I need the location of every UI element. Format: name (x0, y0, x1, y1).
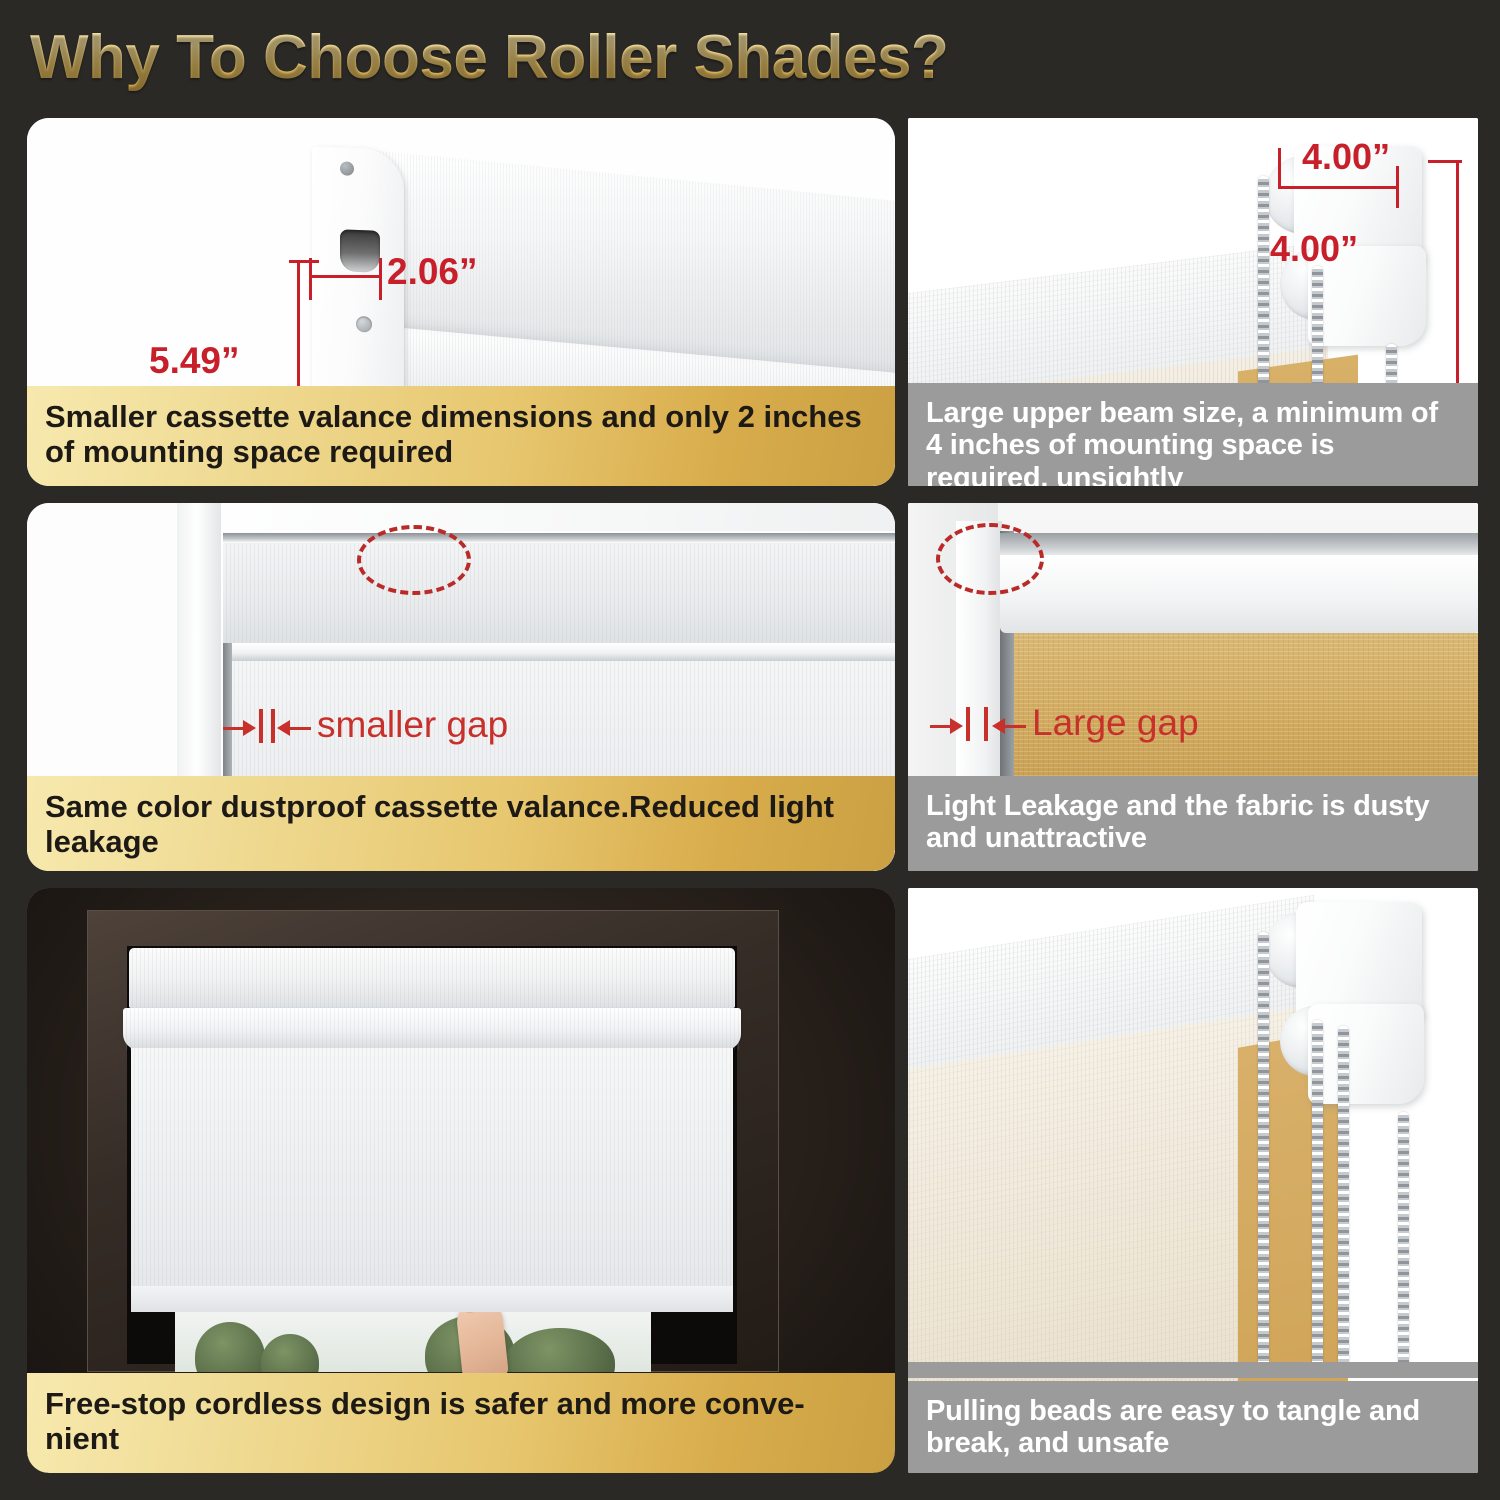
panel-con-large-upper-beam: 4.00” 4.00” Large upper beam size, a min… (908, 118, 1478, 486)
valance (1000, 555, 1478, 633)
dim-cap-top (1428, 160, 1462, 163)
dim-tick-left (1278, 148, 1281, 188)
page-title-text: Why To Choose Roller Shades? (30, 18, 1230, 98)
valance-lip (123, 1008, 741, 1050)
dimension-label-width: 4.00” (1302, 136, 1390, 178)
bead-chain-middle (1312, 1020, 1323, 1372)
cassette-valance (223, 543, 895, 643)
panel-pro-cordless-design: Free-stop cordless design is safer and m… (27, 888, 895, 1473)
dim-line-width (1278, 186, 1398, 189)
bead-chain-rear (1398, 1112, 1409, 1372)
dimension-label-height: 4.00” (1270, 228, 1358, 270)
dim-line-width (309, 275, 381, 278)
shade-fabric (131, 1048, 733, 1310)
panel-pro-dustproof-valance: smaller gap Same color dustproof cassett… (27, 503, 895, 871)
highlight-ellipse-icon (357, 525, 471, 595)
upper-beam (1000, 533, 1478, 555)
bead-chain-inner (1338, 1026, 1349, 1372)
caption-con-pulling-beads: Pulling beads are easy to tangle and bre… (908, 1381, 1478, 1473)
mounting-bracket-lower (1308, 1004, 1424, 1104)
cassette-divider (223, 643, 895, 661)
cassette-headrail (129, 948, 735, 1008)
dim-tick-left (309, 258, 312, 300)
caption-con-light-leakage: Light Leakage and the fabric is dusty an… (908, 776, 1478, 871)
panel-pro-cassette-dimensions: 2.06” 5.49” Smaller cassette valance dim… (27, 118, 895, 486)
mounting-bracket-upper (1296, 902, 1422, 1020)
bead-chain-front (1258, 932, 1269, 1372)
caption-pro-cassette-dimensions: Smaller cassette valance dimensions and … (27, 386, 895, 486)
gap-callout-label: smaller gap (317, 704, 508, 746)
bottom-rail (131, 1286, 733, 1312)
gap-callout-label: Large gap (1032, 702, 1199, 744)
dim-tick-right (379, 258, 382, 300)
outdoor-view (175, 1312, 651, 1372)
caption-pro-cordless-design: Free-stop cordless design is safer and m… (27, 1373, 895, 1473)
panel-con-light-leakage: Large gap Light Leakage and the fabric i… (908, 503, 1478, 871)
dim-cap-top (289, 260, 319, 263)
gap-arrow-right-icon (950, 718, 963, 734)
page-title: Why To Choose Roller Shades? (30, 18, 1230, 98)
caption-con-large-upper-beam: Large upper beam size, a minimum of 4 in… (908, 383, 1478, 486)
dim-line-height (1456, 160, 1459, 420)
caption-pro-dustproof-valance: Same color dustproof cassette valance.Re… (27, 776, 895, 871)
dimension-label-height: 5.49” (149, 340, 240, 382)
cassette-top-edge (223, 533, 895, 543)
gap-arrow-right-icon (243, 720, 256, 736)
panel-con-pulling-beads: Pulling beads are easy to tangle and bre… (908, 888, 1478, 1473)
end-cap-slot (340, 229, 380, 272)
dimension-label-width: 2.06” (387, 251, 478, 293)
highlight-ellipse-icon (936, 523, 1044, 595)
